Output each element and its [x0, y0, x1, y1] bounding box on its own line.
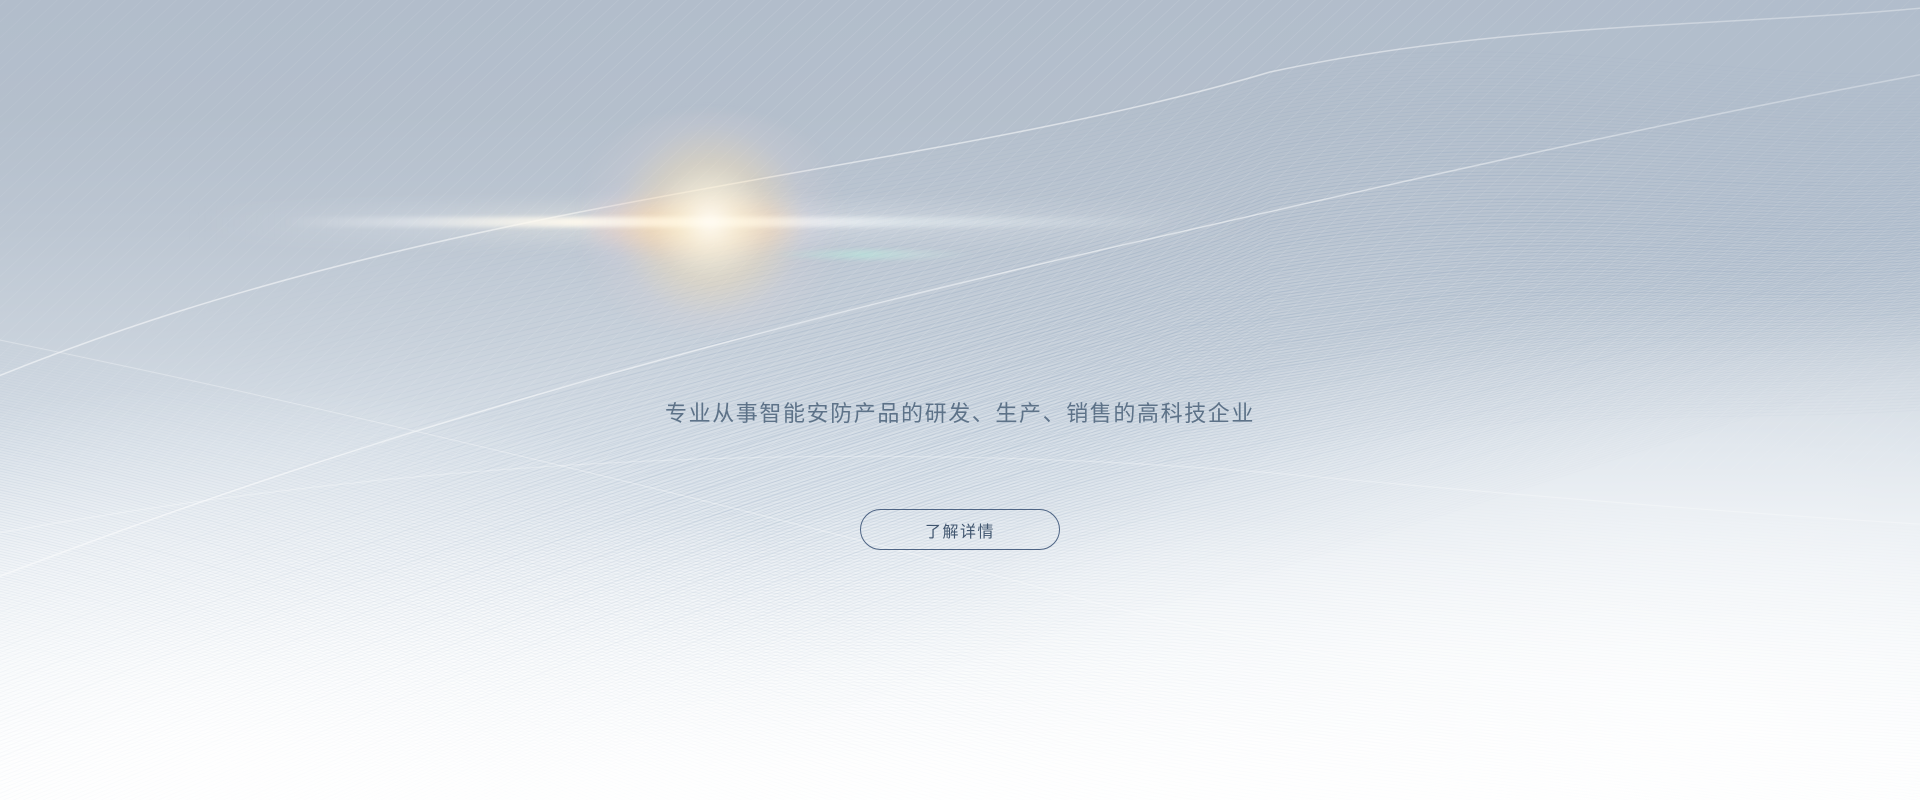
wave-crest-highlight	[0, 2, 1920, 792]
flare-wide-streak	[190, 206, 1270, 240]
learn-more-button[interactable]: 了解详情	[860, 509, 1060, 550]
hero-banner: 以智能视觉处理技术为核心 专业从事智能安防产品的研发、生产、销售的高科技企业 了…	[0, 0, 1920, 800]
flare-ghost	[770, 250, 980, 259]
page-title: 以智能视觉处理技术为核心	[498, 262, 1422, 348]
flare-chromatic-haze	[590, 184, 830, 264]
flare-streak	[280, 217, 1180, 227]
wave-family-bottom-ripples	[0, 456, 1920, 800]
page-title-text: 以智能视觉处理技术为核心	[563, 262, 1358, 348]
hero-content: 以智能视觉处理技术为核心 专业从事智能安防产品的研发、生产、销售的高科技企业 了…	[0, 0, 1920, 800]
wave-family-mid-arc	[0, 78, 1920, 800]
page-subtitle: 专业从事智能安防产品的研发、生产、销售的高科技企业	[665, 398, 1255, 430]
